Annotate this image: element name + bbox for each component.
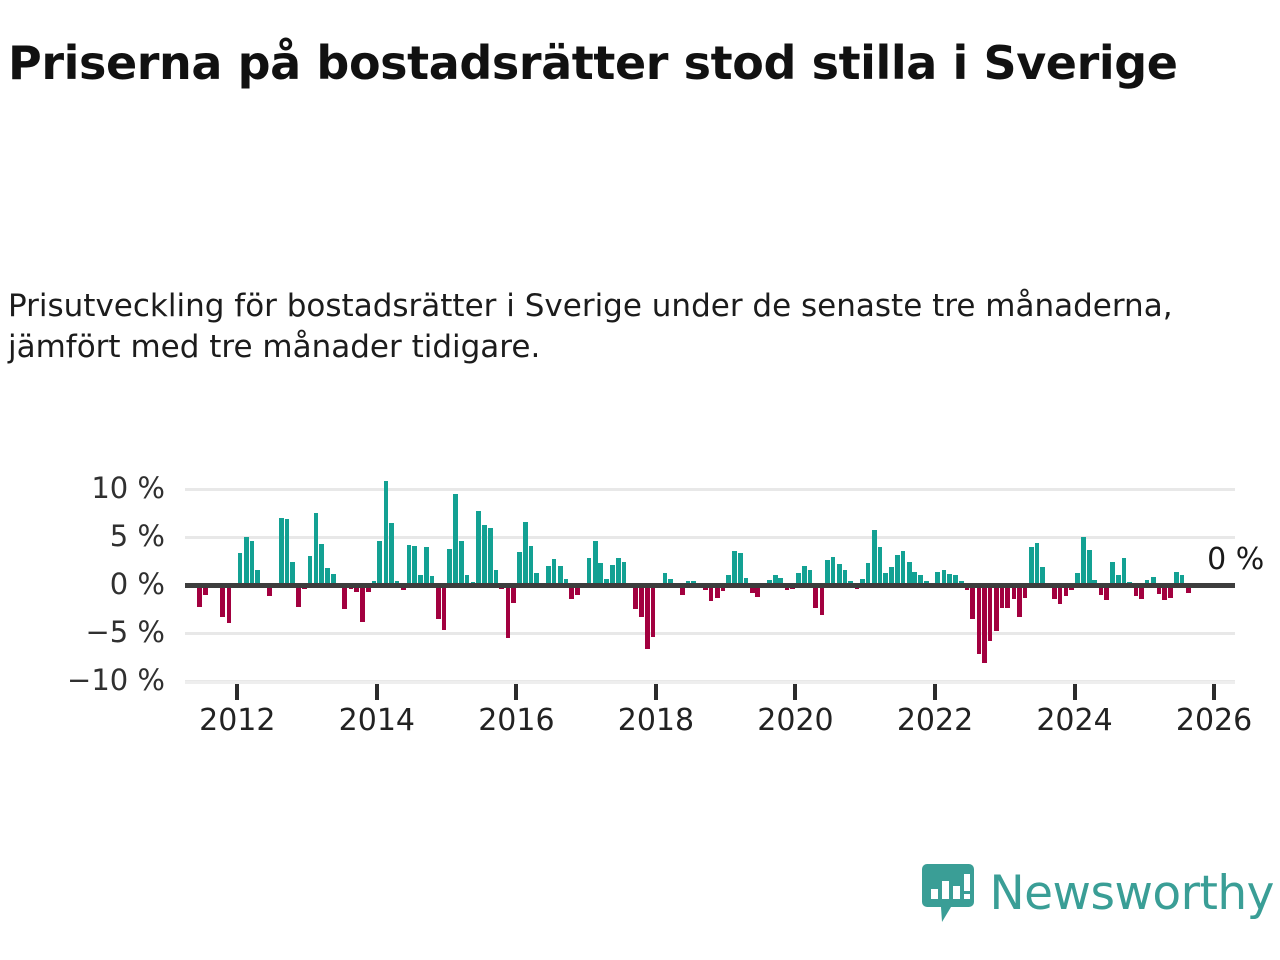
bar [831, 557, 836, 585]
gridline-neg5 [185, 632, 1235, 635]
x-axis-label-2016: 2016 [446, 703, 586, 738]
bar [290, 562, 295, 585]
newsworthy-logo: Newsworthy [921, 862, 1274, 924]
bar [459, 541, 464, 585]
bar [866, 563, 871, 585]
bar [633, 585, 638, 609]
bar [825, 560, 830, 585]
x-axis-tick-2026 [1212, 684, 1216, 700]
bar [907, 562, 912, 585]
bar [250, 541, 255, 585]
bar [732, 551, 737, 585]
x-axis-tick-2016 [514, 684, 518, 700]
x-axis-label-2012: 2012 [167, 703, 307, 738]
y-axis-label-5: 5 % [0, 522, 165, 551]
x-axis-tick-2020 [793, 684, 797, 700]
bar [220, 585, 225, 617]
bar [529, 546, 534, 585]
zero-axis-line [185, 583, 1235, 588]
bar [593, 541, 598, 585]
bar [872, 530, 877, 585]
x-axis-tick-2012 [235, 684, 239, 700]
x-axis-tick-2018 [654, 684, 658, 700]
bar [342, 585, 347, 609]
chart-annotation-latest-value: 0 % [1207, 542, 1264, 577]
bar [506, 585, 511, 638]
price-development-bar-chart: 10 %5 %0 %−5 %−10 %201220142016201820202… [0, 0, 1280, 960]
x-axis-tick-2024 [1073, 684, 1077, 700]
bar [813, 585, 818, 608]
bar [197, 585, 202, 607]
x-axis-tick-2022 [933, 684, 937, 700]
bar [738, 553, 743, 585]
bar [970, 585, 975, 619]
bar [308, 556, 313, 585]
bar [407, 545, 412, 585]
bar [1000, 585, 1005, 608]
x-axis-line [185, 681, 1235, 684]
bar [895, 555, 900, 585]
bar [982, 585, 987, 663]
bar [279, 518, 284, 585]
bar [360, 585, 365, 622]
bar [1029, 547, 1034, 585]
logo-wordmark: Newsworthy [989, 870, 1274, 917]
bar [1122, 558, 1127, 585]
bar [453, 494, 458, 585]
x-axis-label-2018: 2018 [586, 703, 726, 738]
bar [552, 559, 557, 585]
bar [639, 585, 644, 617]
bar [314, 513, 319, 585]
bar [645, 585, 650, 649]
bar [616, 558, 621, 585]
bar [820, 585, 825, 615]
bar [244, 537, 249, 585]
bar [238, 553, 243, 585]
bar [587, 558, 592, 585]
y-axis-label-0: 0 % [0, 570, 165, 599]
bar [476, 511, 481, 585]
bar [837, 564, 842, 585]
bar [598, 563, 603, 585]
x-axis-label-2022: 2022 [865, 703, 1005, 738]
bar [1110, 562, 1115, 585]
bar [622, 562, 627, 585]
bar [319, 544, 324, 585]
gridline-5 [185, 536, 1235, 539]
bar [482, 525, 487, 585]
y-axis-label-neg5: −5 % [0, 618, 165, 647]
bar [1087, 550, 1092, 585]
bar [994, 585, 999, 631]
bar [285, 519, 290, 585]
bar [488, 528, 493, 585]
chart-plot-area [185, 489, 1235, 681]
gridline-10 [185, 488, 1235, 491]
x-axis-label-2020: 2020 [725, 703, 865, 738]
y-axis-label-10: 10 % [0, 474, 165, 503]
bar [1081, 537, 1086, 585]
bar [977, 585, 982, 654]
bar [377, 541, 382, 585]
y-axis-label-neg10: −10 % [0, 666, 165, 695]
bar [517, 552, 522, 585]
bar [436, 585, 441, 619]
bar [424, 547, 429, 585]
bar [412, 546, 417, 585]
x-axis-label-2026: 2026 [1144, 703, 1280, 738]
bar [389, 523, 394, 585]
bar [651, 585, 656, 637]
bar [878, 547, 883, 585]
bar [442, 585, 447, 630]
bar [296, 585, 301, 607]
bar [610, 565, 615, 585]
bar [384, 481, 389, 585]
x-axis-tick-2014 [375, 684, 379, 700]
bar [227, 585, 232, 623]
bar [523, 522, 528, 585]
bar [988, 585, 993, 641]
x-axis-label-2014: 2014 [307, 703, 447, 738]
bar [901, 551, 906, 585]
x-axis-label-2024: 2024 [1005, 703, 1145, 738]
bar [1005, 585, 1010, 608]
bar [1035, 543, 1040, 585]
newsworthy-chart-bubble-icon [921, 862, 975, 924]
bar [447, 549, 452, 585]
bar [1017, 585, 1022, 617]
